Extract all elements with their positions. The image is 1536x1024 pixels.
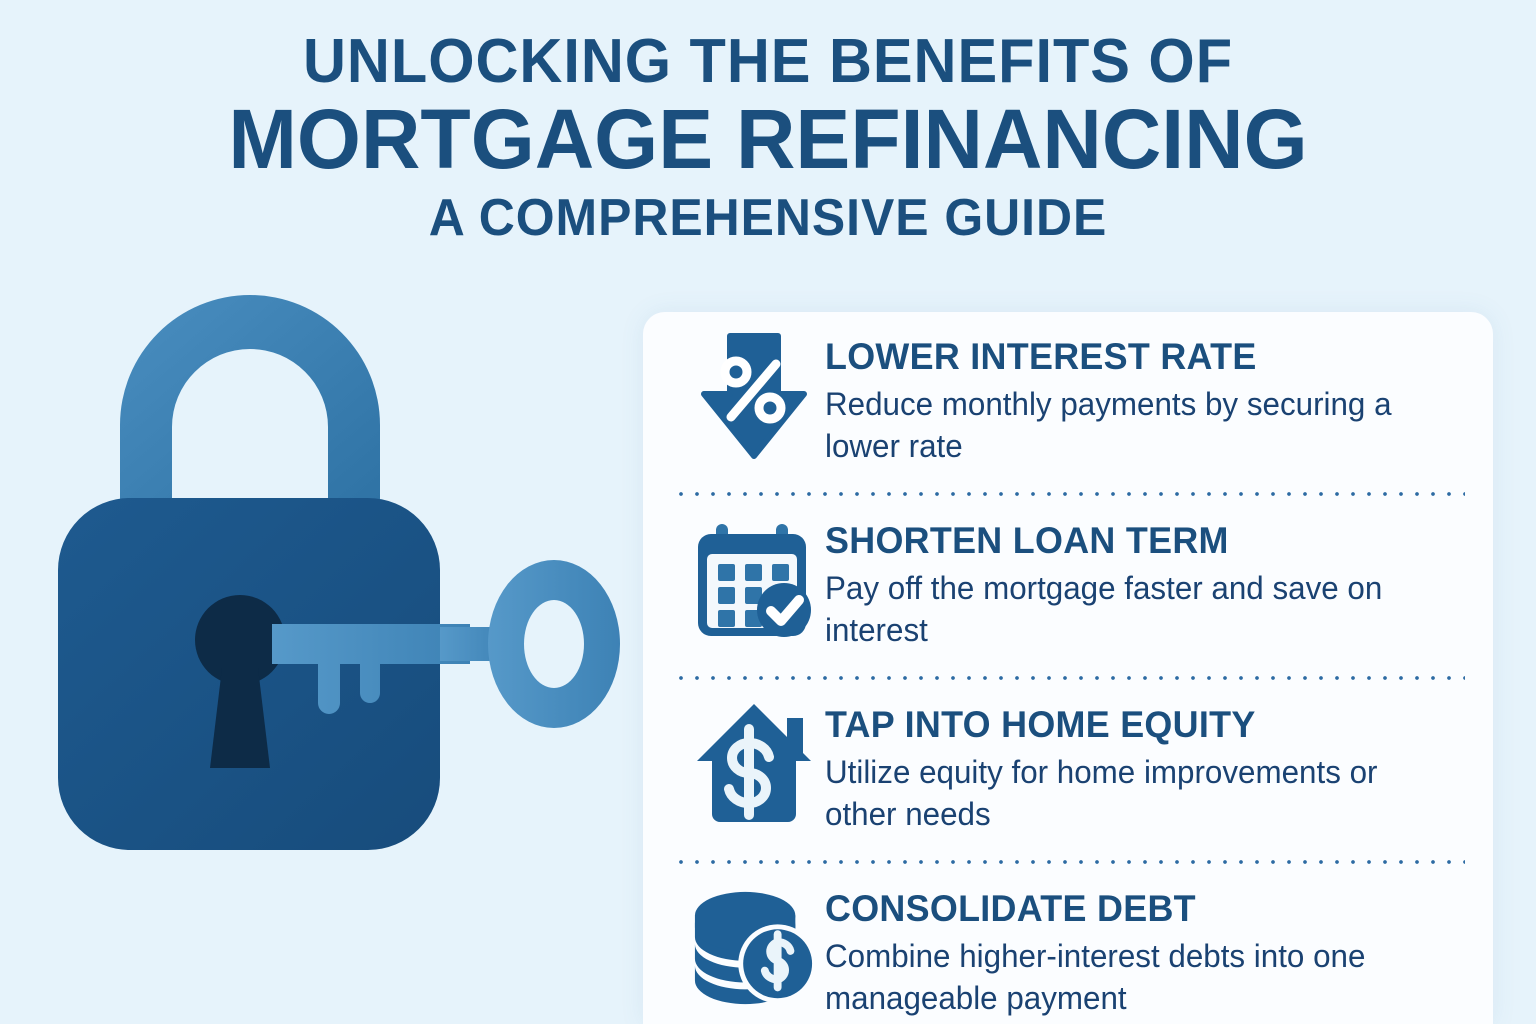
benefit-description: Reduce monthly payments by securing a lo… [825,383,1450,467]
benefit-text-block: Lower Interest Rate Reduce monthly payme… [817,312,1463,467]
title-subtitle: A Comprehensive Guide [31,191,1506,246]
coin-stack-dollar-icon [691,864,817,1014]
page-title: Mortgage Refinancing [15,95,1520,183]
benefit-title: Lower Interest Rate [825,338,1444,377]
percent-down-arrow-icon [691,312,817,462]
page-header: Unlocking the Benefits of Mortgage Refin… [0,0,1536,246]
benefit-text-block: Tap Into Home Equity Utilize equity for … [817,680,1463,835]
benefit-item-tap-into-home-equity[interactable]: Tap Into Home Equity Utilize equity for … [643,680,1493,860]
title-line-1: Unlocking the Benefits of [31,30,1506,93]
benefit-title: Shorten Loan Term [825,522,1444,561]
benefits-card: Lower Interest Rate Reduce monthly payme… [643,312,1493,1024]
padlock-illustration [40,275,640,855]
benefit-description: Utilize equity for home improvements or … [825,751,1450,835]
benefit-item-lower-interest-rate[interactable]: Lower Interest Rate Reduce monthly payme… [643,312,1493,492]
padlock-shackle [120,295,380,515]
house-dollar-icon [691,680,817,830]
benefit-text-block: Consolidate Debt Combine higher-interest… [817,864,1463,1019]
calendar-check-icon [691,496,817,646]
benefit-description: Pay off the mortgage faster and save on … [825,567,1450,651]
benefit-title: Consolidate Debt [825,890,1444,929]
benefit-item-shorten-loan-term[interactable]: Shorten Loan Term Pay off the mortgage f… [643,496,1493,676]
benefit-text-block: Shorten Loan Term Pay off the mortgage f… [817,496,1463,651]
benefit-title: Tap Into Home Equity [825,706,1444,745]
benefits-list: Lower Interest Rate Reduce monthly payme… [643,312,1493,1024]
benefit-item-consolidate-debt[interactable]: Consolidate Debt Combine higher-interest… [643,864,1493,1024]
benefit-description: Combine higher-interest debts into one m… [825,935,1450,1019]
